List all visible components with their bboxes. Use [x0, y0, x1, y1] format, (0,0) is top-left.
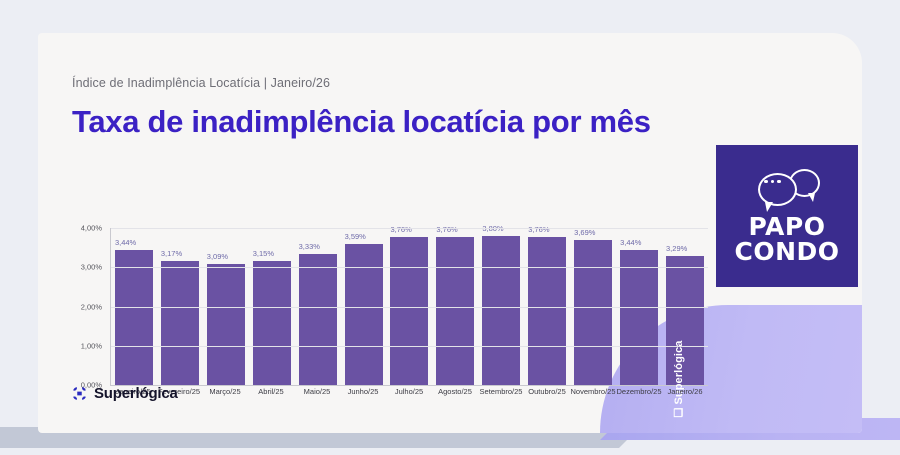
chat-bubble-front-icon — [758, 173, 797, 206]
bar[interactable]: 3,44% — [620, 250, 658, 385]
chat-bubbles-icon — [754, 168, 820, 206]
bar-value-label: 3,76% — [390, 225, 411, 234]
bar-value-label: 3,69% — [574, 228, 595, 237]
bar[interactable]: 3,09% — [207, 264, 245, 385]
bar[interactable]: 3,29%❑Superlógica — [666, 256, 704, 385]
bar[interactable]: 3,76% — [390, 237, 428, 385]
bar[interactable]: 3,80% — [482, 236, 520, 385]
superlogica-wordmark: Superlógica — [94, 385, 178, 402]
x-tick-label: Agosto/25 — [432, 387, 478, 396]
x-tick-label: Dezembro/25 — [616, 387, 662, 396]
bar[interactable]: 3,76% — [528, 237, 566, 385]
x-tick-label: Abril/25 — [248, 387, 294, 396]
x-axis: Janeiro/25Fevereiro/25Março/25Abril/25Ma… — [110, 387, 708, 396]
chart-watermark: ❑Superlógica — [672, 340, 685, 417]
bar-value-label: 3,44% — [115, 238, 136, 247]
bar-chart: 0,00%1,00%2,00%3,00%4,00% 3,44%3,17%3,09… — [62, 193, 712, 408]
bar-value-label: 3,76% — [528, 225, 549, 234]
y-tick-label: 1,00% — [81, 341, 102, 350]
y-tick-label: 3,00% — [81, 263, 102, 272]
bar[interactable]: 3,76% — [436, 237, 474, 385]
dot — [771, 180, 775, 184]
bar[interactable]: 3,44% — [115, 250, 153, 385]
gridline — [111, 346, 708, 347]
dot — [777, 180, 781, 184]
gridline — [111, 267, 708, 268]
bar-value-label: 3,59% — [345, 232, 366, 241]
superlogica-footer-logo: Superlógica — [72, 385, 178, 402]
x-tick-label: Outubro/25 — [524, 387, 570, 396]
brand-logo-line1: PAPO — [749, 214, 826, 240]
header-block: Índice de Inadimplência Locatícia | Jane… — [72, 76, 651, 140]
superlogica-mark-icon — [72, 386, 87, 401]
y-tick-label: 4,00% — [81, 224, 102, 233]
y-tick-label: 2,00% — [81, 302, 102, 311]
gridline — [111, 228, 708, 229]
x-tick-label: Maio/25 — [294, 387, 340, 396]
bar-value-label: 3,76% — [436, 225, 457, 234]
page-title: Taxa de inadimplência locatícia por mês — [72, 104, 651, 140]
bar[interactable]: 3,17% — [161, 261, 199, 385]
bar[interactable]: 3,15% — [253, 261, 291, 385]
superlogica-mark-icon: ❑ — [672, 408, 685, 418]
x-tick-label: Setembro/25 — [478, 387, 524, 396]
dot — [764, 180, 768, 184]
x-tick-label: Novembro/25 — [570, 387, 616, 396]
brand-logo-line2: CONDO — [734, 239, 839, 265]
x-tick-label: Março/25 — [202, 387, 248, 396]
gridline — [111, 307, 708, 308]
bar-value-label: 3,17% — [161, 249, 182, 258]
bar-value-label: 3,44% — [620, 238, 641, 247]
x-tick-label: Julho/25 — [386, 387, 432, 396]
bar[interactable]: 3,33% — [299, 254, 337, 385]
papocondo-logo: PAPO CONDO — [716, 145, 858, 287]
report-card: Índice de Inadimplência Locatícia | Jane… — [38, 33, 862, 433]
x-tick-label: Junho/25 — [340, 387, 386, 396]
y-axis: 0,00%1,00%2,00%3,00%4,00% — [62, 228, 106, 385]
bar[interactable]: 3,69% — [574, 240, 612, 385]
bar-value-label: 3,15% — [253, 249, 274, 258]
x-tick-label: Janeiro/26 — [662, 387, 708, 396]
chart-plot-area: 3,44%3,17%3,09%3,15%3,33%3,59%3,76%3,76%… — [110, 228, 708, 386]
eyebrow-label: Índice de Inadimplência Locatícia | Jane… — [72, 76, 651, 90]
bar[interactable]: 3,59% — [345, 244, 383, 385]
bar-value-label: 3,29% — [666, 244, 687, 253]
ellipsis-dots-icon — [764, 180, 781, 184]
bar-value-label: 3,09% — [207, 252, 228, 261]
bar-value-label: 3,33% — [299, 242, 320, 251]
